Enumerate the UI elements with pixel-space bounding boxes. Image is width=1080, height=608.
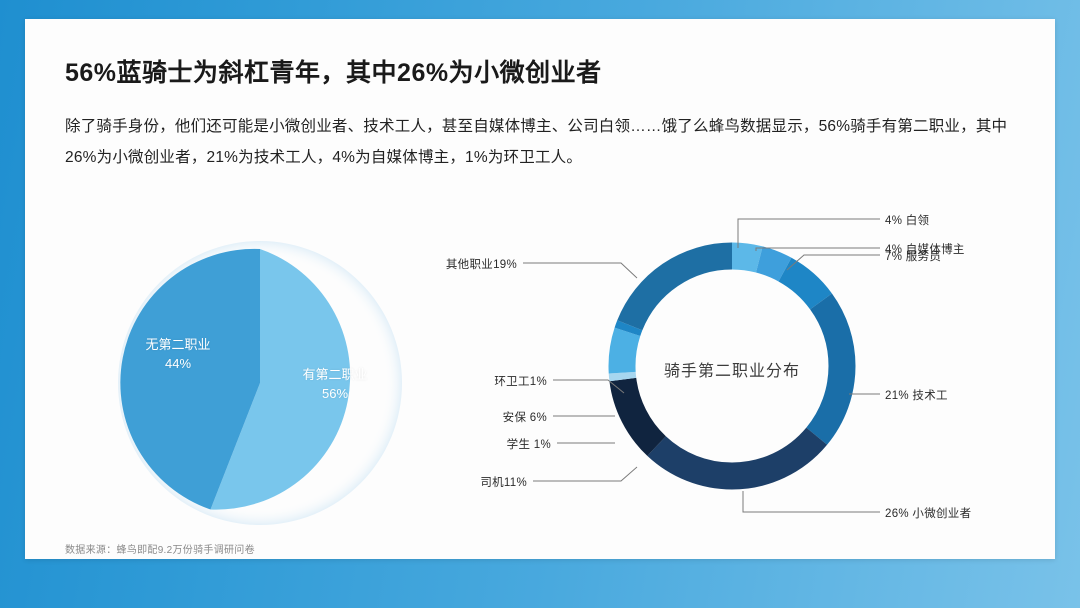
pie-label-has-second-job-name: 有第二职业 [270, 365, 400, 384]
body-paragraph: 除了骑手身份，他们还可能是小微创业者、技术工人，甚至自媒体博主、公司白领……饿了… [65, 111, 1017, 173]
donut-callout-bailing: 4% 白领 [885, 212, 929, 228]
donut-callout-fuwuyuan: 7% 服务员 [885, 248, 941, 264]
donut-callout-jishugong: 21% 技术工 [885, 387, 948, 403]
page-title: 56%蓝骑士为斜杠青年，其中26%为小微创业者 [65, 53, 602, 89]
pie-label-no-second-job-value: 44% [118, 354, 238, 373]
pie-label-has-second-job-value: 56% [270, 384, 400, 403]
donut-callout-xuesheng: 学生 1% [425, 436, 551, 452]
pie-label-no-second-job: 无第二职业 44% [118, 335, 238, 373]
slide-page: 56%蓝骑士为斜杠青年，其中26%为小微创业者 除了骑手身份，他们还可能是小微创… [25, 19, 1055, 559]
pie-label-has-second-job: 有第二职业 56% [270, 365, 400, 403]
slide-frame: 56%蓝骑士为斜杠青年，其中26%为小微创业者 除了骑手身份，他们还可能是小微创… [0, 0, 1080, 608]
donut-callout-chuangyezhe: 26% 小微创业者 [885, 505, 971, 521]
donut-chart-job-distribution: 骑手第二职业分布 4% 白领 4% 自媒体博主 7% 服务员 21% 技术工 2… [425, 194, 1055, 539]
pie-chart-second-job: 无第二职业 44% 有第二职业 56% [110, 235, 420, 535]
donut-callout-anbao: 安保 6% [425, 409, 547, 425]
donut-callout-huanweigong: 环卫工1% [425, 373, 547, 389]
donut-center-title: 骑手第二职业分布 [617, 357, 847, 381]
data-source-note: 数据来源：蜂鸟即配9.2万份骑手调研问卷 [65, 541, 255, 556]
donut-callout-qita: 其他职业19% [425, 256, 517, 272]
donut-callout-siji: 司机11% [425, 474, 527, 490]
pie-label-no-second-job-name: 无第二职业 [118, 335, 238, 354]
